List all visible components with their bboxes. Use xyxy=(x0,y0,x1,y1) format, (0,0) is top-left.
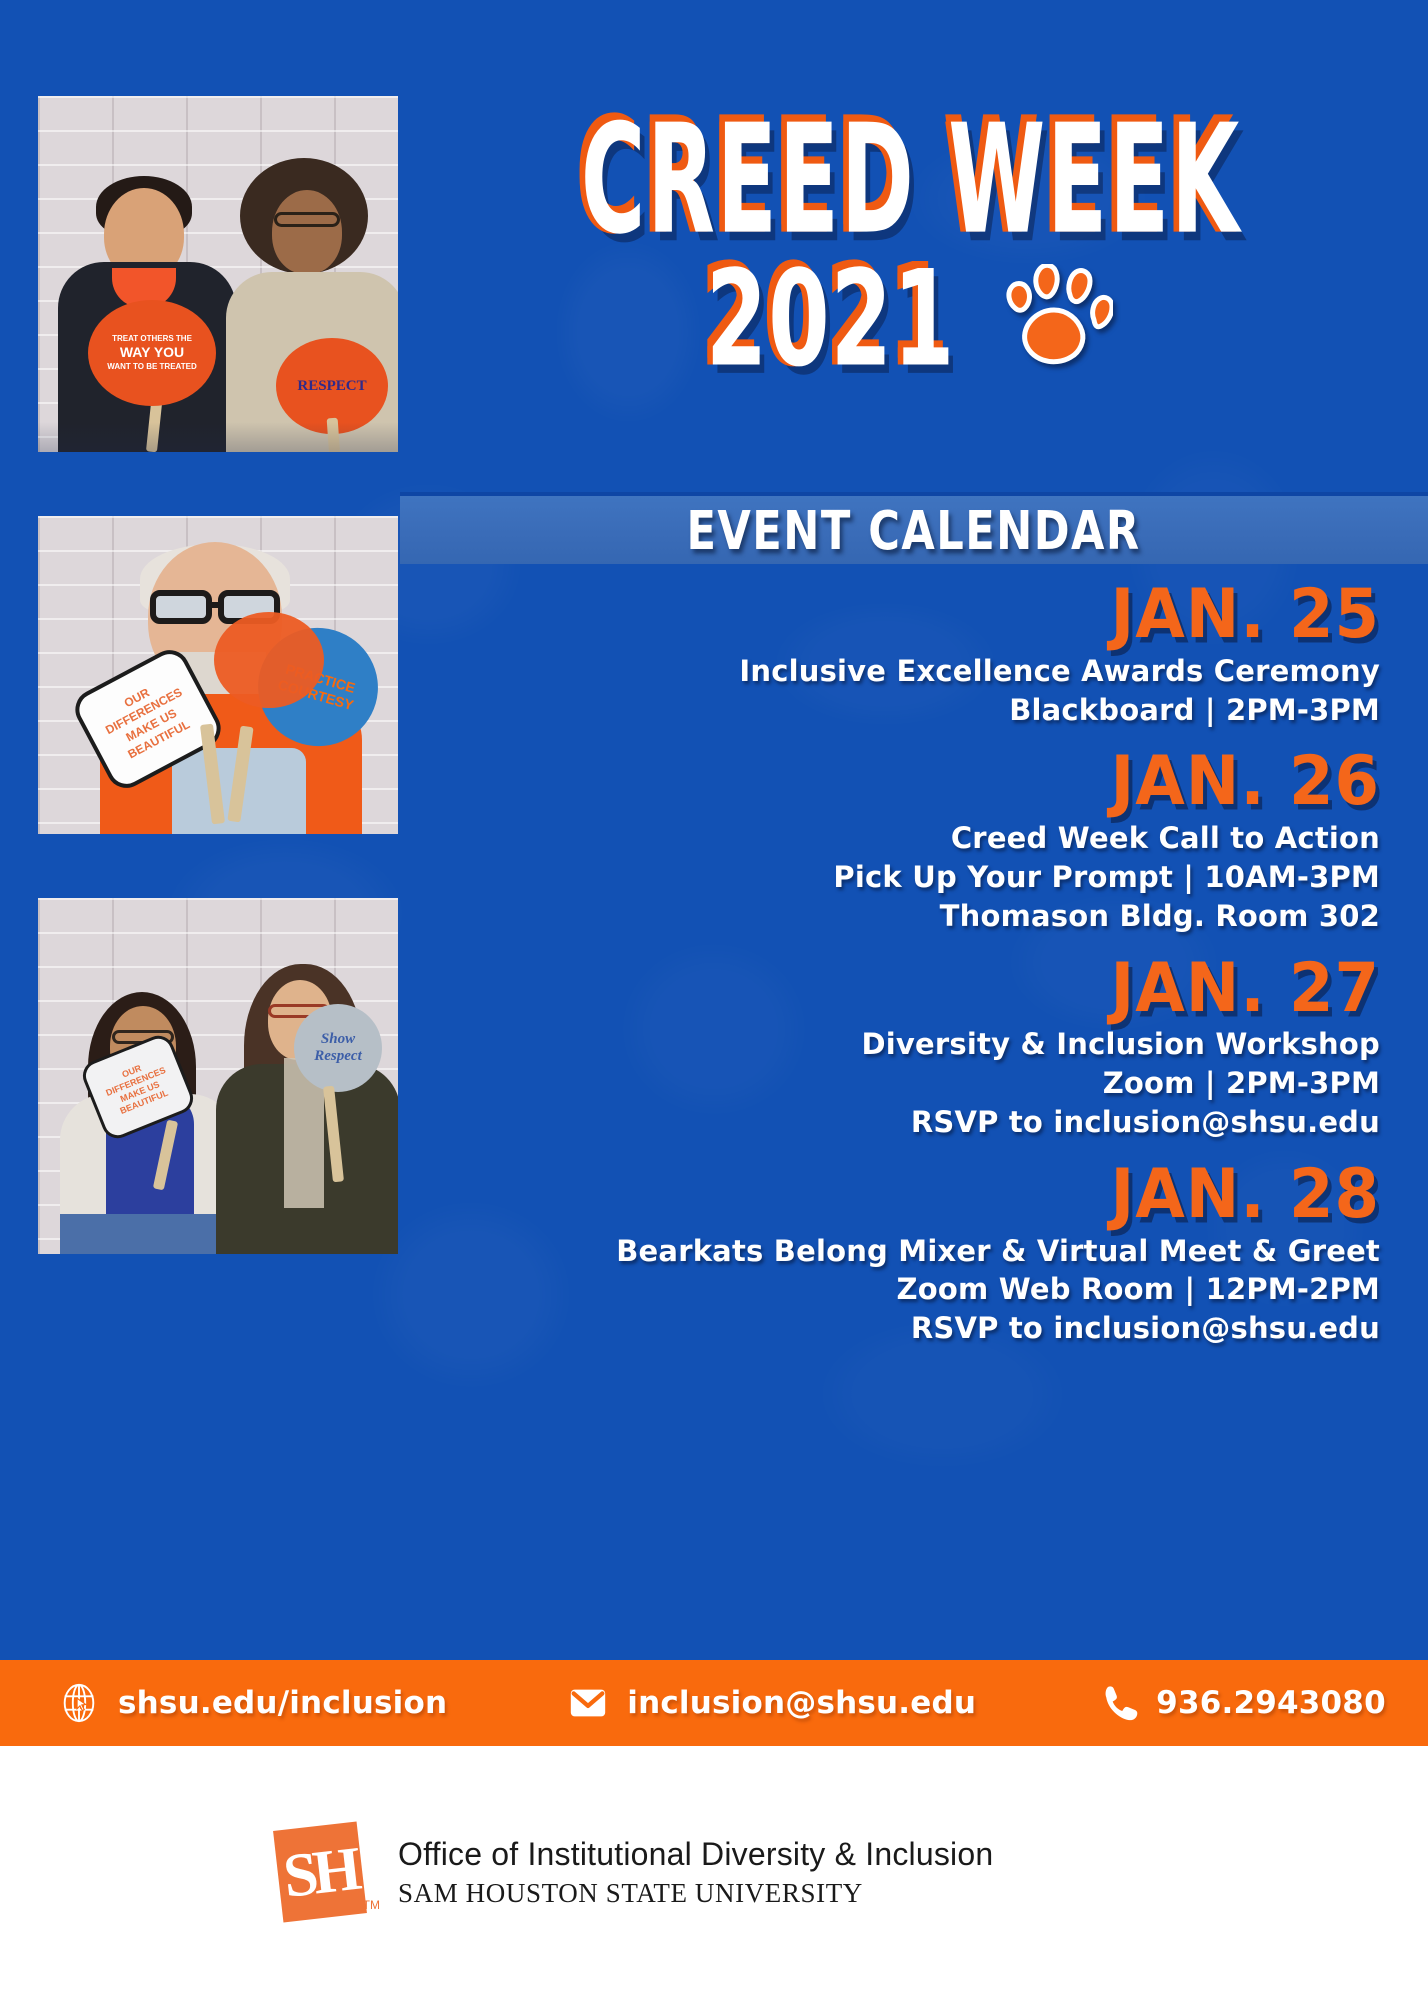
event-detail-line: Bearkats Belong Mixer & Virtual Meet & G… xyxy=(404,1232,1380,1271)
event-date: JAN. 25 xyxy=(404,578,1380,654)
creed-week-poster: TREAT OTHERS THEWAY YOUWANT TO BE TREATE… xyxy=(0,0,1428,2000)
event-detail-line: Thomason Bldg. Room 302 xyxy=(404,897,1380,936)
photo-two-students-respect: TREAT OTHERS THEWAY YOUWANT TO BE TREATE… xyxy=(38,96,398,452)
event-detail-line: Blackboard | 2PM-3PM xyxy=(404,691,1380,730)
event-detail-line: Diversity & Inclusion Workshop xyxy=(404,1025,1380,1064)
event-list: JAN. 25 Inclusive Excellence Awards Cere… xyxy=(404,580,1404,1366)
event-date: JAN. 28 xyxy=(404,1158,1380,1234)
event-detail-line: Zoom | 2PM-3PM xyxy=(404,1064,1380,1103)
event-item: JAN. 25 Inclusive Excellence Awards Cere… xyxy=(404,580,1404,729)
footer: SH TM Office of Institutional Diversity … xyxy=(0,1746,1428,2000)
office-name: Office of Institutional Diversity & Incl… xyxy=(398,1834,993,1874)
university-name: SAM HOUSTON STATE UNIVERSITY xyxy=(398,1876,993,1911)
poster-headline: CREED WEEK 2021 xyxy=(404,96,1404,396)
contact-bar: shsu.edu/inclusion inclusion@shsu.edu 93… xyxy=(0,1660,1428,1746)
photo-two-students-show-respect: OURDIFFERENCESMAKE USBEAUTIFUL ShowRespe… xyxy=(38,898,398,1254)
logo-monogram: SH xyxy=(266,1813,374,1933)
envelope-icon xyxy=(567,1682,609,1724)
year-and-paw-row: 2021 xyxy=(404,264,1404,374)
event-detail-line: Zoom Web Room | 12PM-2PM xyxy=(404,1270,1380,1309)
event-item: JAN. 26 Creed Week Call to Action Pick U… xyxy=(404,747,1404,935)
trademark-symbol: TM xyxy=(363,1898,380,1912)
event-detail-line: Pick Up Your Prompt | 10AM-3PM xyxy=(404,858,1380,897)
sign-respect-orange xyxy=(214,612,324,708)
person-right: RESPECT xyxy=(224,142,398,452)
title-year: 2021 xyxy=(706,253,955,385)
email-address: inclusion@shsu.edu xyxy=(627,1685,976,1721)
phone-number: 936.2943080 xyxy=(1156,1685,1386,1721)
website-url: shsu.edu/inclusion xyxy=(118,1685,447,1721)
footer-logo-lockup: SH TM Office of Institutional Diversity … xyxy=(272,1818,993,1928)
person-left: TREAT OTHERS THEWAY YOUWANT TO BE TREATE… xyxy=(52,152,242,452)
event-item: JAN. 27 Diversity & Inclusion Workshop Z… xyxy=(404,954,1404,1142)
bearkat-paw-icon xyxy=(995,264,1113,374)
event-detail-line: Inclusive Excellence Awards Ceremony xyxy=(404,652,1380,691)
contact-website[interactable]: shsu.edu/inclusion xyxy=(58,1682,447,1724)
contact-phone[interactable]: 936.2943080 xyxy=(1096,1682,1386,1724)
phone-icon xyxy=(1096,1682,1138,1724)
shsu-logo-icon: SH TM xyxy=(272,1818,368,1928)
event-detail-line: RSVP to inclusion@shsu.edu xyxy=(404,1309,1380,1348)
event-calendar-banner: EVENT CALENDAR xyxy=(400,492,1428,564)
event-detail-line: RSVP to inclusion@shsu.edu xyxy=(404,1103,1380,1142)
footer-text-block: Office of Institutional Diversity & Incl… xyxy=(398,1834,993,1911)
photo-faculty-member: OURDIFFERENCESMAKE USBEAUTIFUL PRACTICEC… xyxy=(38,516,398,834)
sign-show-respect: ShowRespect xyxy=(294,1004,382,1092)
event-calendar-label: EVENT CALENDAR xyxy=(687,499,1141,562)
event-date: JAN. 26 xyxy=(404,745,1380,821)
contact-email[interactable]: inclusion@shsu.edu xyxy=(567,1682,976,1724)
person-right xyxy=(222,954,398,1254)
event-detail-line: Creed Week Call to Action xyxy=(404,819,1380,858)
event-item: JAN. 28 Bearkats Belong Mixer & Virtual … xyxy=(404,1160,1404,1348)
page-title: CREED WEEK xyxy=(448,104,1375,255)
globe-icon xyxy=(58,1682,100,1724)
event-date: JAN. 27 xyxy=(404,951,1380,1027)
